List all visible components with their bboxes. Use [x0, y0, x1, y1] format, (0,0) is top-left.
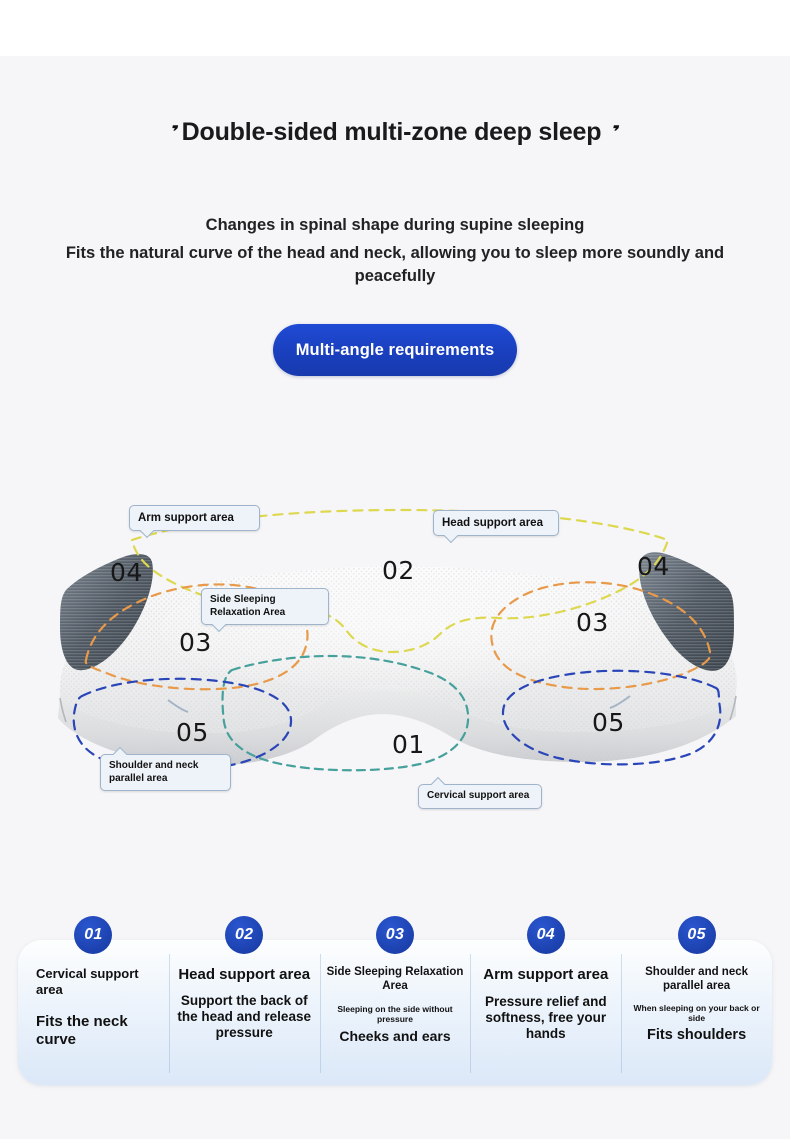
zone-legend-panel: 01 Cervical support area Fits the neck c…: [18, 940, 772, 1085]
pillow-illustration: [0, 470, 790, 850]
legend-title-02: Head support area: [175, 966, 314, 984]
legend-card-03[interactable]: 03 Side Sleeping Relaxation Area Sleepin…: [320, 940, 471, 1085]
zone-number-05-right: 05: [592, 708, 625, 737]
zone-number-05-left: 05: [176, 718, 209, 747]
legend-badge-05: 05: [678, 916, 716, 954]
legend-desc-04: Pressure relief and softness, free your …: [476, 994, 615, 1043]
page-title-text: Double-sided multi-zone deep sleep: [182, 118, 602, 146]
quote-open-icon: ❜: [168, 122, 181, 141]
legend-note-03: Sleeping on the side without pressure: [326, 1004, 465, 1024]
legend-title-04: Arm support area: [476, 966, 615, 984]
zone-number-04-left: 04: [110, 558, 143, 587]
legend-badge-02: 02: [225, 916, 263, 954]
zone-number-03-right: 03: [576, 608, 609, 637]
legend-desc-02: Support the back of the head and release…: [175, 993, 314, 1042]
legend-card-05[interactable]: 05 Shoulder and neck parallel area When …: [621, 940, 772, 1085]
product-infographic-page: ❜Double-sided multi-zone deep sleep❜ Cha…: [0, 0, 790, 1139]
callout-cervical-support-area: Cervical support area: [418, 784, 542, 809]
legend-card-04[interactable]: 04 Arm support area Pressure relief and …: [470, 940, 621, 1085]
legend-title-01: Cervical support area: [24, 966, 163, 997]
multi-angle-requirements-button[interactable]: Multi-angle requirements: [273, 324, 517, 376]
legend-badge-01: 01: [74, 916, 112, 954]
page-title: ❜Double-sided multi-zone deep sleep❜: [0, 118, 790, 149]
callout-shoulder-neck-area: Shoulder and neck parallel area: [100, 754, 231, 791]
zone-number-04-right: 04: [637, 552, 670, 581]
subtitle-primary: Changes in spinal shape during supine sl…: [0, 216, 790, 235]
legend-note-05: When sleeping on your back or side: [627, 1003, 766, 1023]
legend-title-05: Shoulder and neck parallel area: [627, 966, 766, 994]
legend-badge-03: 03: [376, 916, 414, 954]
legend-desc-03: Cheeks and ears: [326, 1028, 465, 1045]
zone-number-01: 01: [392, 730, 425, 759]
callout-side-sleeping-area: Side Sleeping Relaxation Area: [201, 588, 329, 625]
legend-badge-04: 04: [527, 916, 565, 954]
callout-arm-support-area: Arm support area: [129, 505, 260, 531]
legend-desc-01: Fits the neck curve: [24, 1013, 163, 1049]
legend-card-02[interactable]: 02 Head support area Support the back of…: [169, 940, 320, 1085]
legend-desc-05: Fits shoulders: [627, 1027, 766, 1044]
quote-close-icon: ❜: [609, 122, 622, 141]
legend-title-03: Side Sleeping Relaxation Area: [326, 966, 465, 994]
callout-head-support-area: Head support area: [433, 510, 559, 536]
subtitle-secondary: Fits the natural curve of the head and n…: [60, 242, 730, 288]
zone-number-03-left: 03: [179, 628, 212, 657]
legend-card-01[interactable]: 01 Cervical support area Fits the neck c…: [18, 940, 169, 1085]
pillow-diagram: [0, 470, 790, 850]
zone-number-02: 02: [382, 556, 415, 585]
